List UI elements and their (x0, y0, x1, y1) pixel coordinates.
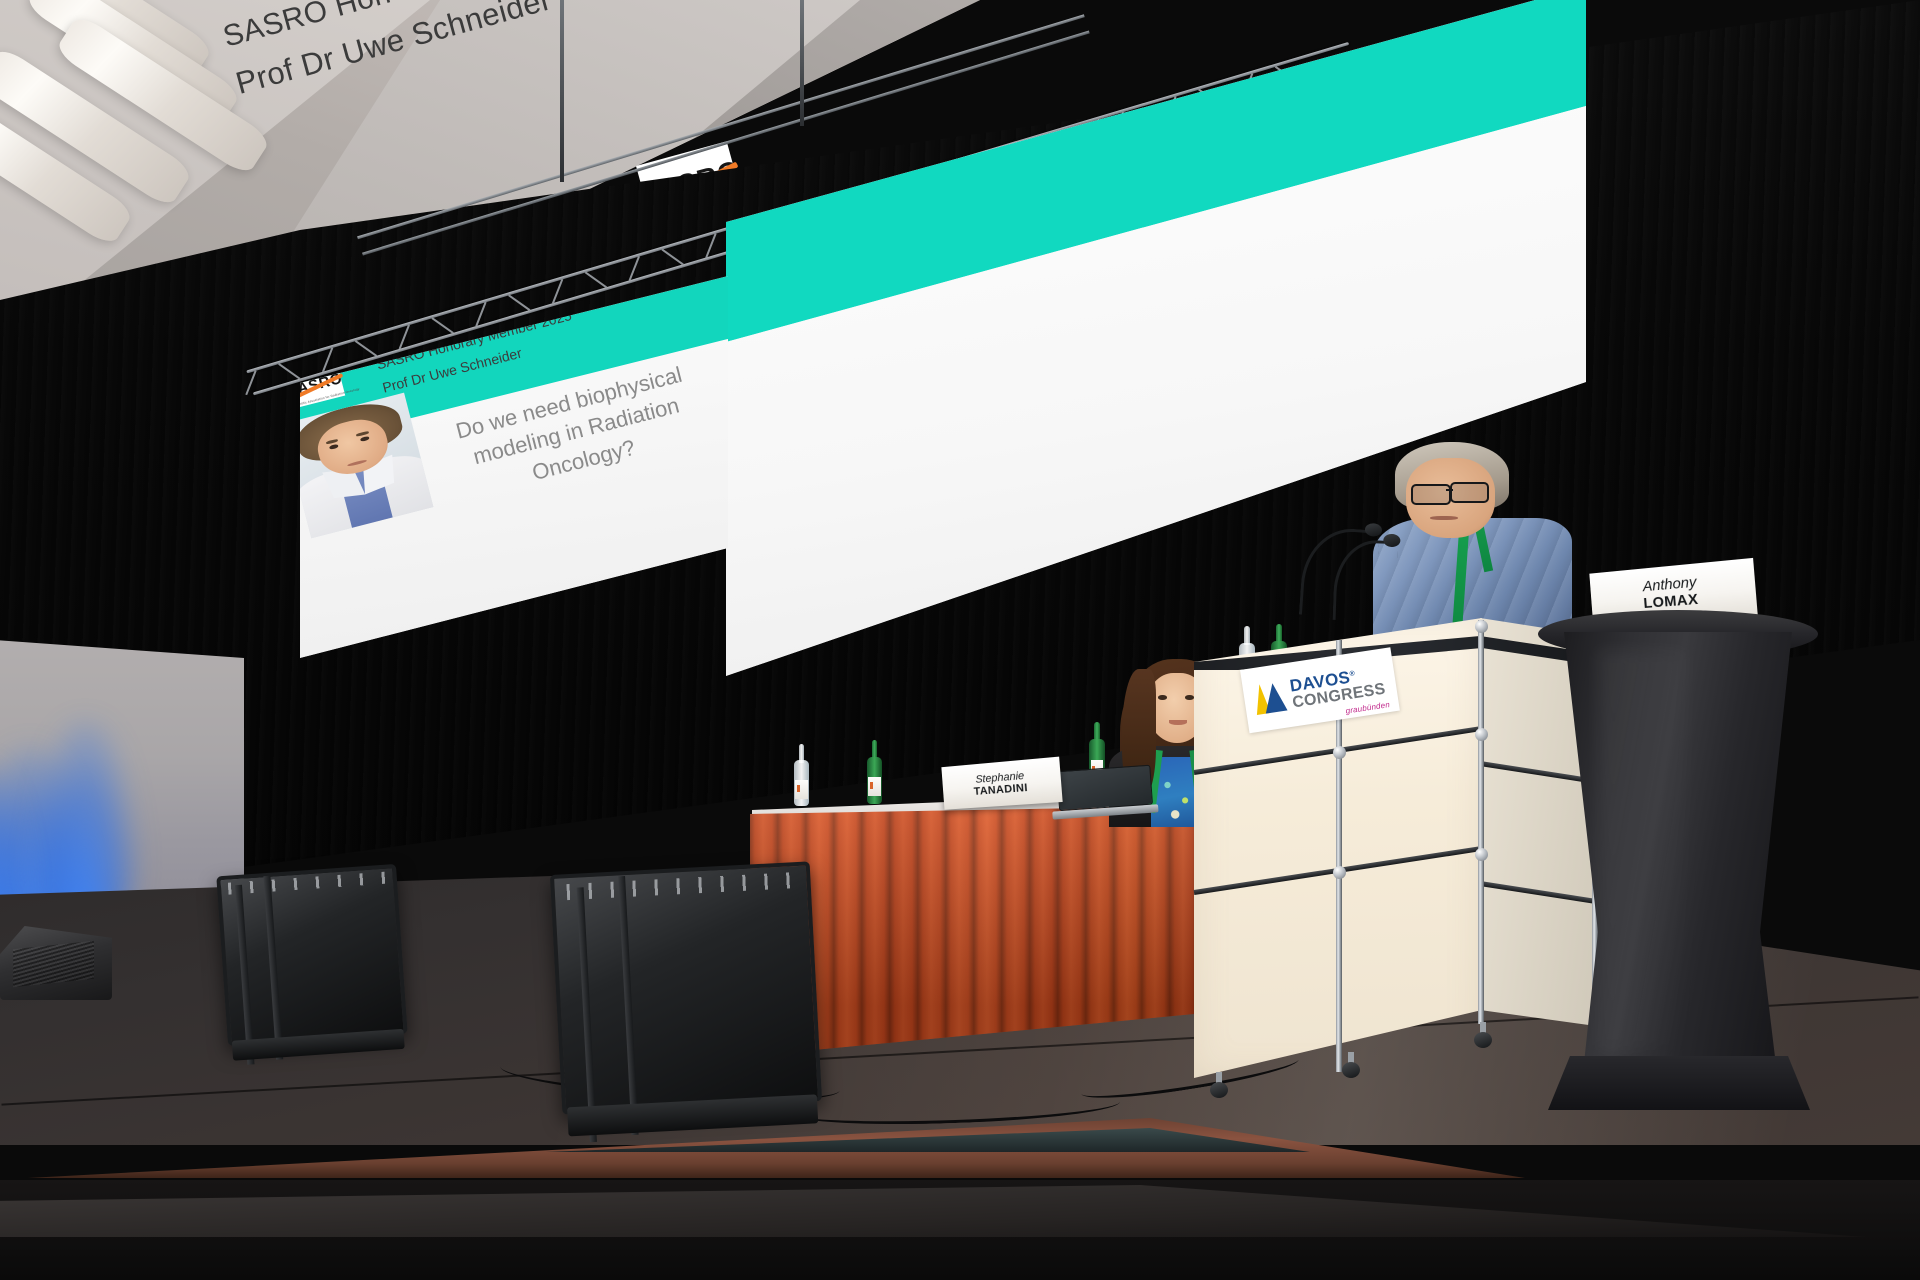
podium-caster (1208, 1072, 1230, 1098)
podium-ball-joint (1475, 848, 1488, 861)
eyeglasses-bridge (1446, 489, 1453, 491)
podium-caster (1472, 1022, 1494, 1048)
water-bottle (866, 740, 883, 804)
registered-mark: ® (1349, 670, 1355, 678)
podium-caster (1340, 1052, 1362, 1078)
podium-ball-joint (1475, 728, 1488, 741)
water-bottle (793, 744, 810, 806)
bistro-cocktail-table (1538, 610, 1818, 1110)
gooseneck-microphone (1333, 539, 1396, 619)
podium-ball-joint (1333, 746, 1346, 759)
eyeglasses-left-lens (1411, 484, 1450, 505)
truss-drop-line (560, 0, 564, 182)
eyeglasses-right-lens (1450, 482, 1489, 503)
nameplate-stephanie-tanadini: Stephanie TANADINI (941, 757, 1062, 810)
confidence-monitor (550, 861, 822, 1114)
truss-drop-line (800, 0, 804, 126)
laptop[interactable] (1056, 765, 1151, 819)
bistro-base (1548, 1056, 1810, 1116)
conference-stage-photo: SASRO Honorary Member 2025 Prof Dr Uwe S… (0, 0, 1920, 1280)
podium-post (1478, 620, 1484, 1024)
lectern-podium: DAVOS® CONGRESS graubünden (1194, 618, 1594, 1078)
podium-ball-joint (1333, 866, 1346, 879)
confidence-monitor (216, 864, 407, 1046)
stage-wedge-monitor (0, 926, 112, 1000)
podium-ball-joint (1475, 620, 1488, 633)
davos-mountain-icon (1250, 679, 1289, 718)
laptop-screen (1056, 765, 1153, 812)
